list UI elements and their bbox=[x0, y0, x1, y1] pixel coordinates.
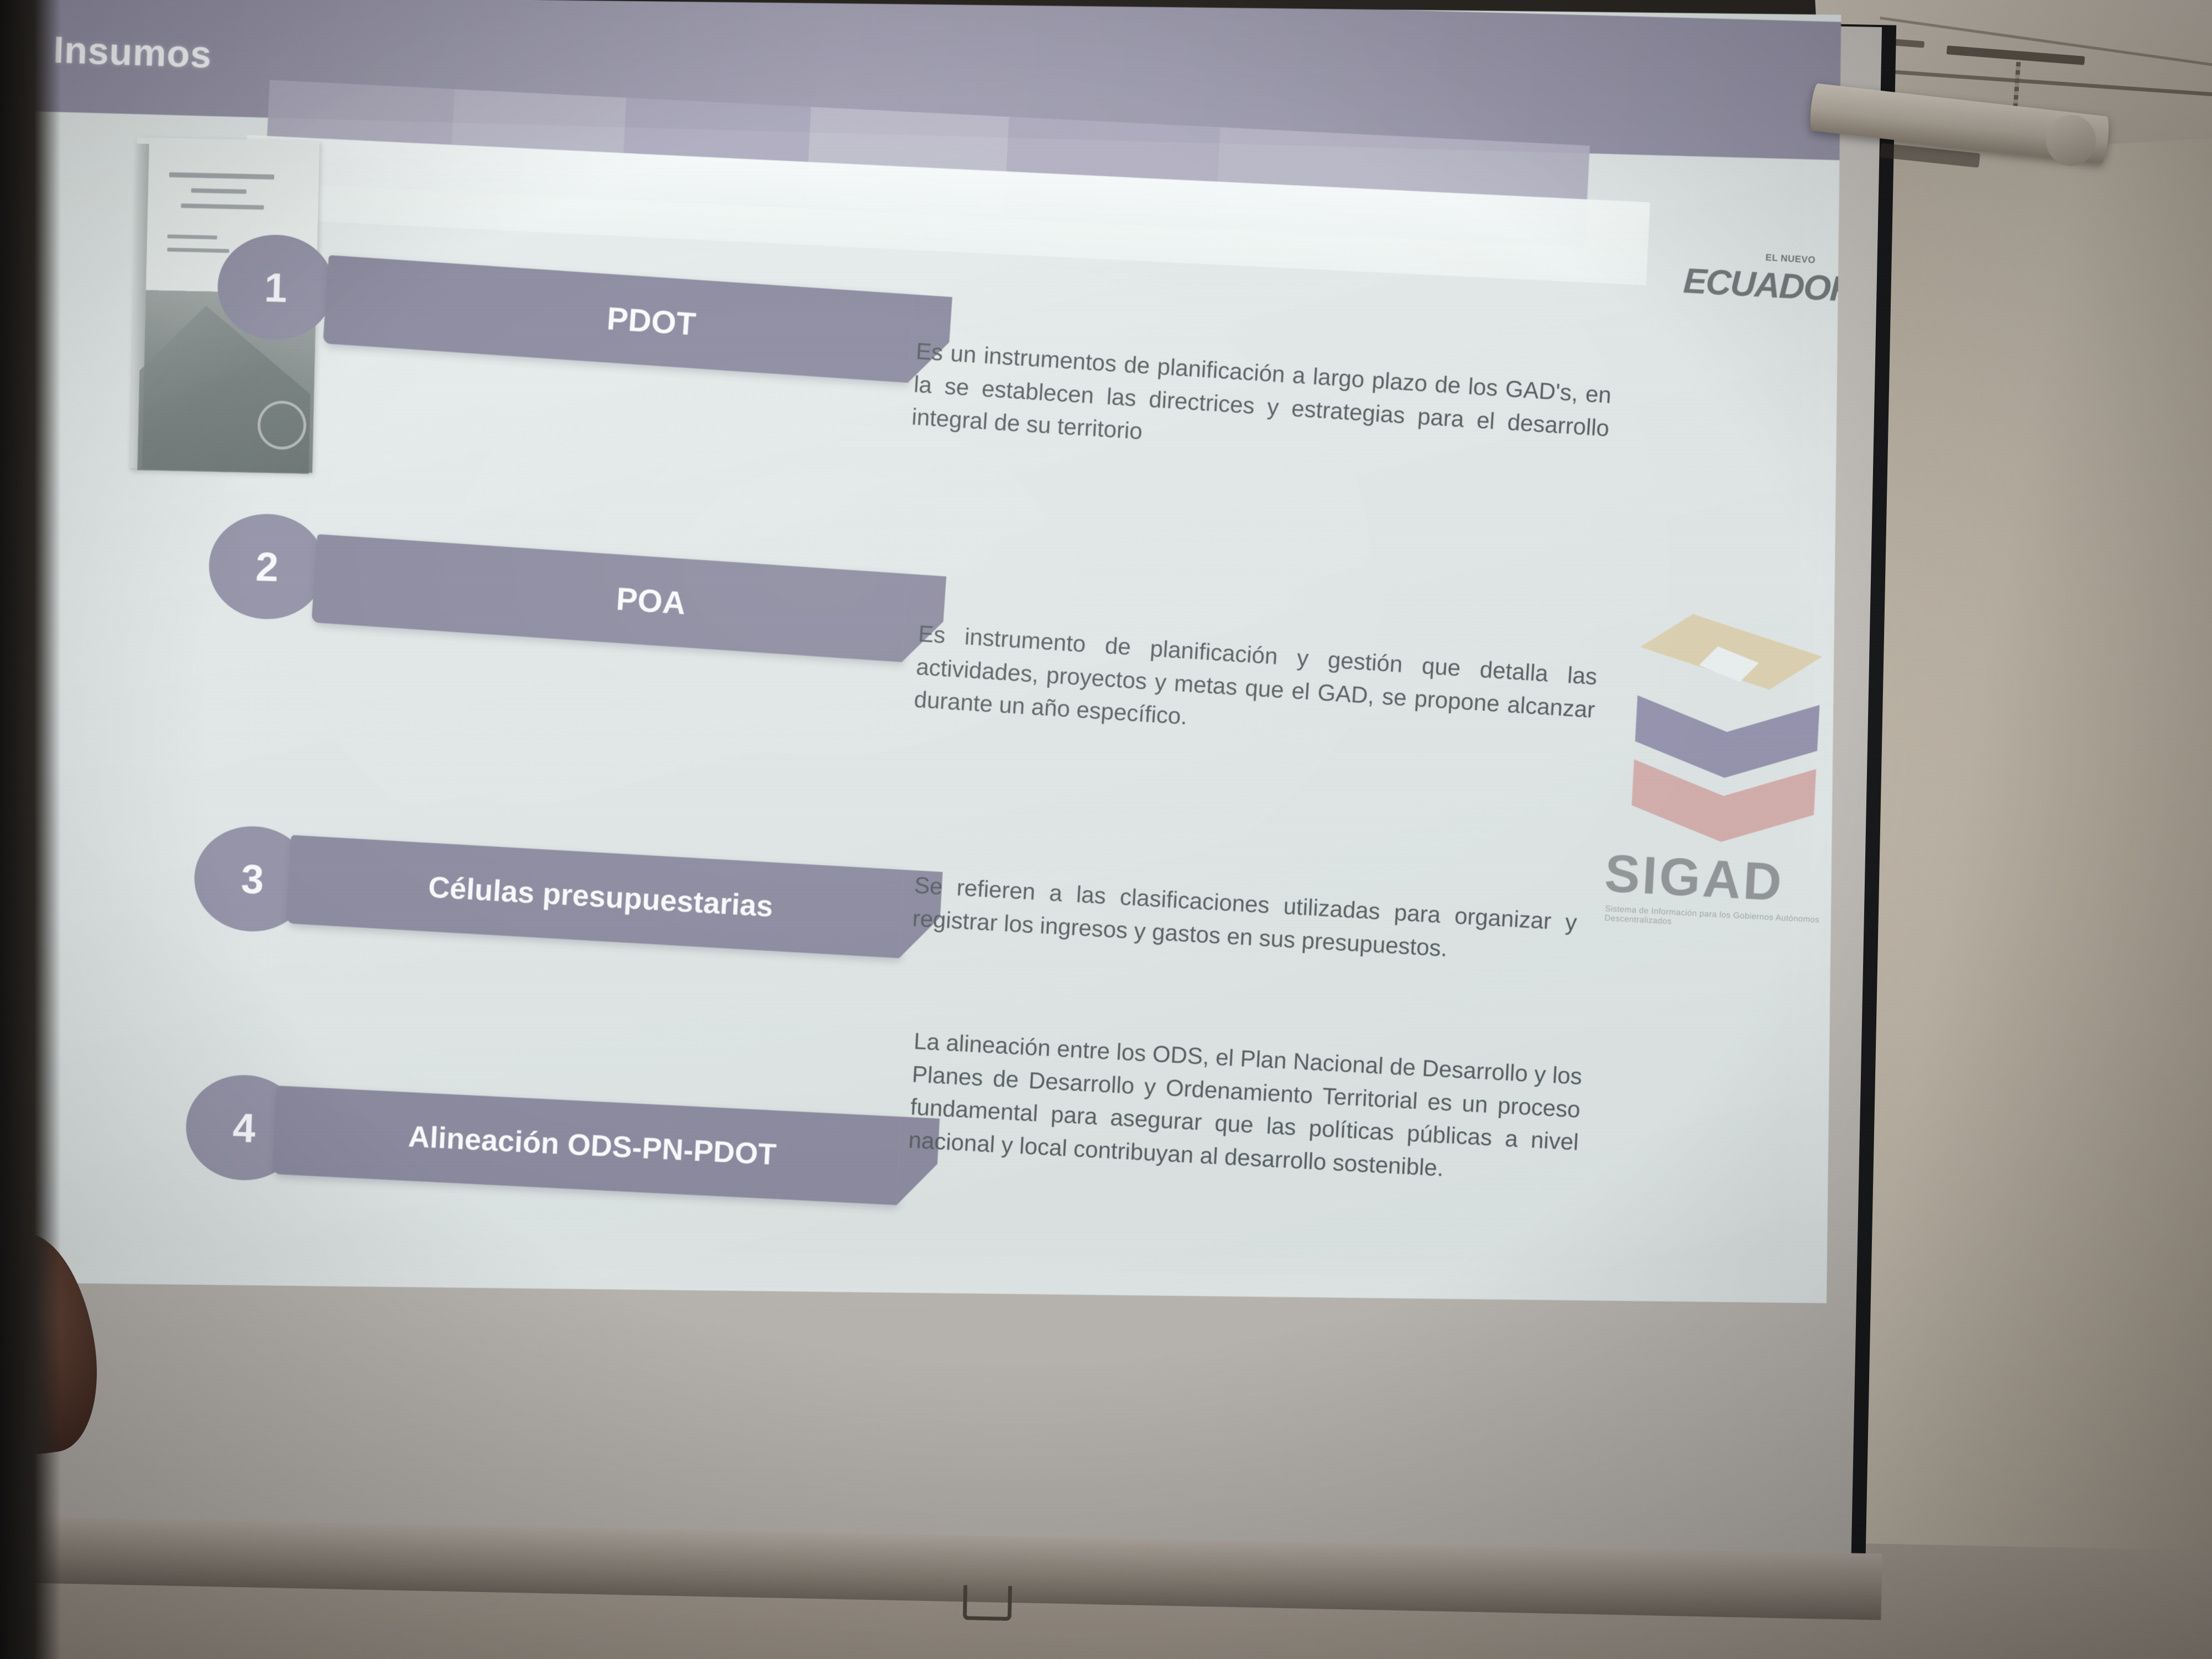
room-photo: Insumos 1 PDOT Es un instrumentos de pla… bbox=[0, 0, 2212, 1659]
screen-pull-handle[interactable] bbox=[963, 1585, 1012, 1621]
item-number-badge: 2 bbox=[207, 513, 326, 621]
item-label-ribbon[interactable]: POA bbox=[311, 534, 907, 662]
sigad-logo: SIGAD Sistema de Información para los Go… bbox=[1592, 609, 1841, 936]
page-title: Insumos bbox=[53, 28, 212, 76]
ecuador-logo: ECUADOR EL NUEVO bbox=[1682, 260, 1841, 312]
ecuador-wordmark: ECUADOR bbox=[1682, 260, 1841, 310]
item-description: Es instrumento de planificación y gestió… bbox=[913, 617, 1598, 759]
projected-slide: Insumos 1 PDOT Es un instrumentos de pla… bbox=[0, 0, 1841, 1303]
item-description: La alineación entre los ODS, el Plan Nac… bbox=[907, 1025, 1583, 1192]
item-label-ribbon[interactable]: PDOT bbox=[323, 255, 914, 383]
projection-screen: Insumos 1 PDOT Es un instrumentos de pla… bbox=[0, 0, 1924, 1659]
ecuador-tagline: EL NUEVO bbox=[1765, 252, 1816, 266]
sigad-stack-icon bbox=[1596, 609, 1841, 867]
item-description: Se refieren a las clasificaciones utiliz… bbox=[911, 869, 1578, 972]
item-label-ribbon[interactable]: Alineación ODS-PN-PDOT bbox=[273, 1086, 901, 1205]
item-description: Es un instrumentos de planificación a la… bbox=[911, 335, 1613, 478]
item-label-ribbon[interactable]: Células presupuestarias bbox=[286, 835, 904, 958]
left-shadow bbox=[0, 0, 61, 1659]
